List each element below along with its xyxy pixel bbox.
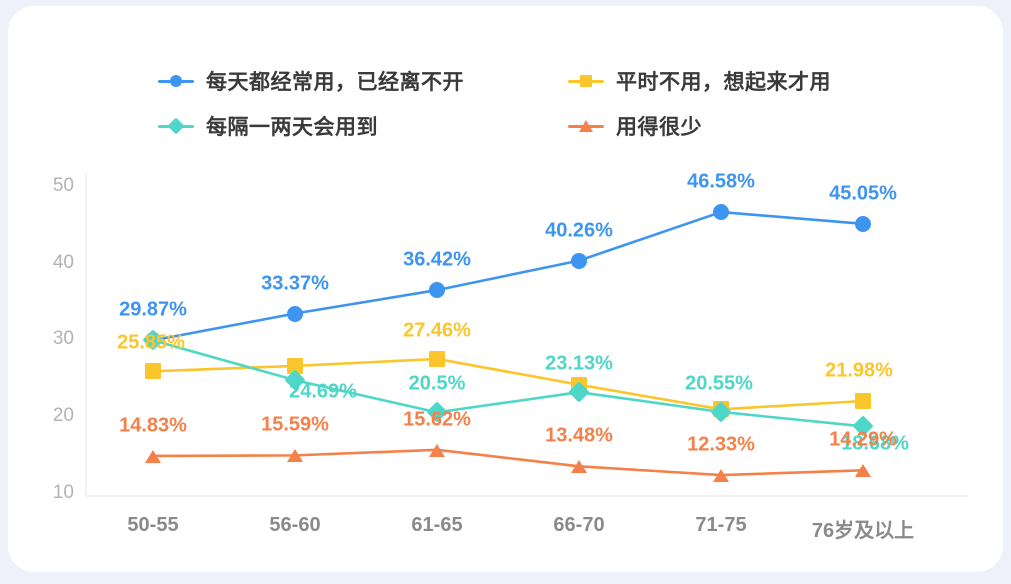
data-label-0-1: 33.37% <box>261 272 329 295</box>
data-label-3-3: 13.48% <box>545 425 613 448</box>
y-tick-label-3: 40 <box>30 252 74 274</box>
plot-area: 29.87%33.37%36.42%40.26%46.58%45.05%25.8… <box>8 6 1003 572</box>
data-label-0-2: 36.42% <box>403 249 471 272</box>
data-label-2-4: 20.55% <box>685 372 753 395</box>
x-tick-label-2: 61-65 <box>411 514 462 537</box>
data-label-2-1: 24.69% <box>289 381 357 404</box>
y-tick-label-1: 20 <box>30 405 74 427</box>
data-label-1-2: 27.46% <box>403 319 471 342</box>
y-tick-label-4: 50 <box>30 175 74 197</box>
x-tick-label-1: 56-60 <box>269 514 320 537</box>
data-label-0-5: 45.05% <box>829 182 897 205</box>
data-point-1-0[interactable] <box>145 363 161 379</box>
x-tick-label-4: 71-75 <box>695 514 746 537</box>
data-point-3-2[interactable] <box>429 444 445 457</box>
data-point-3-4[interactable] <box>713 469 729 482</box>
data-label-0-0: 29.87% <box>119 299 187 322</box>
data-label-3-0: 14.83% <box>119 414 187 437</box>
data-point-1-5[interactable] <box>855 393 871 409</box>
y-tick-label-0: 10 <box>30 482 74 504</box>
data-label-1-0: 25.85% <box>117 332 185 355</box>
y-tick-label-2: 30 <box>30 328 74 350</box>
data-point-3-5[interactable] <box>855 464 871 477</box>
data-label-3-1: 15.59% <box>261 414 329 437</box>
data-label-2-3: 23.13% <box>545 353 613 376</box>
data-label-0-3: 40.26% <box>545 219 613 242</box>
data-point-1-2[interactable] <box>429 351 445 367</box>
data-label-1-5: 21.98% <box>825 359 893 382</box>
data-point-0-3[interactable] <box>571 253 587 269</box>
data-label-0-4: 46.58% <box>687 171 755 194</box>
data-point-0-5[interactable] <box>855 216 871 232</box>
chart-card: 每天都经常用，已经离不开 平时不用，想起来才用 每隔一两天会用到 <box>8 6 1003 572</box>
data-label-3-2: 15.62% <box>403 408 471 431</box>
series-line-3 <box>153 450 863 475</box>
series-line-0 <box>153 212 863 340</box>
series-line-2 <box>153 340 863 426</box>
x-tick-label-5: 76岁及以上 <box>812 514 914 543</box>
x-tick-label-3: 66-70 <box>553 514 604 537</box>
data-point-0-2[interactable] <box>429 282 445 298</box>
plot-svg <box>8 6 1003 572</box>
data-label-2-2: 20.5% <box>409 373 466 396</box>
data-point-0-4[interactable] <box>713 204 729 220</box>
data-label-3-5: 14.29% <box>829 429 897 452</box>
data-point-3-1[interactable] <box>287 449 303 462</box>
x-tick-label-0: 50-55 <box>127 514 178 537</box>
data-point-3-3[interactable] <box>571 460 587 473</box>
data-label-3-4: 12.33% <box>687 434 755 457</box>
data-point-3-0[interactable] <box>145 450 161 463</box>
data-point-0-1[interactable] <box>287 306 303 322</box>
